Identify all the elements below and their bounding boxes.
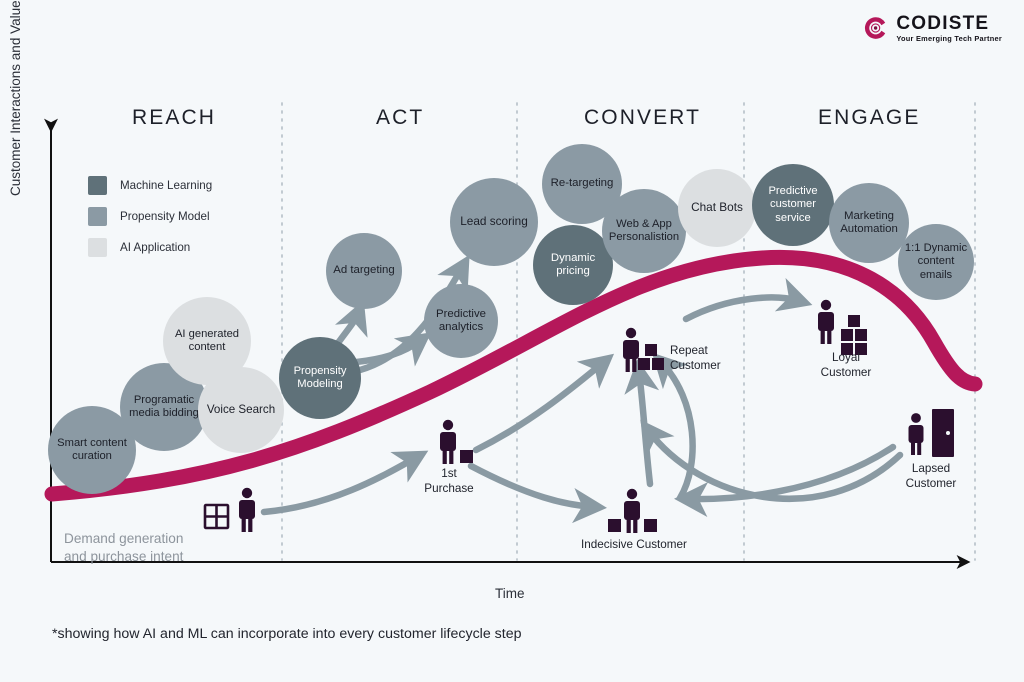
bubble-label: AI generated content <box>167 328 247 354</box>
bubble-label: Voice Search <box>207 403 275 417</box>
bubble-1-1-dynamic-content-emails[interactable]: 1:1 Dynamic content emails <box>898 224 974 300</box>
demand-line-1: Demand generation <box>64 531 183 546</box>
label-first-purchase: 1stPurchase <box>418 466 480 496</box>
loyal-customer-icon <box>818 300 867 355</box>
bubble-propensity-modeling[interactable]: Propensity Modeling <box>279 337 361 419</box>
bubble-voice-search[interactable]: Voice Search <box>198 367 284 453</box>
demand-generation-annotation: Demand generation and purchase intent <box>64 530 183 566</box>
legend-label-machine-learning: Machine Learning <box>120 179 212 192</box>
label-loyal-customer: LoyalCustomer <box>808 350 884 380</box>
demand-line-2: and purchase intent <box>64 549 183 564</box>
legend-label-ai-application: AI Application <box>120 241 190 254</box>
stage-header-reach: REACH <box>132 106 216 130</box>
bubble-ad-targeting[interactable]: Ad targeting <box>326 233 402 309</box>
label-indecisive-customer: Indecisive Customer <box>573 537 695 552</box>
bubble-label: Predictive customer service <box>756 185 830 224</box>
first-purchase-icon <box>440 420 473 464</box>
legend: Machine Learning Propensity Model AI App… <box>88 176 212 269</box>
indecisive-customer-icon <box>608 489 657 533</box>
legend-swatch-propensity-model <box>88 207 107 226</box>
legend-item-ai-application: AI Application <box>88 238 212 257</box>
repeat-customer-icon <box>623 328 664 372</box>
bubble-lead-scoring[interactable]: Lead scoring <box>450 178 538 266</box>
stage-header-engage: ENGAGE <box>818 106 920 130</box>
bubble-label: Ad targeting <box>333 264 394 277</box>
window-icon <box>205 505 228 528</box>
infographic-canvas: CODISTE Your Emerging Tech Partner <box>0 0 1024 682</box>
bubble-label: Re-targeting <box>551 177 614 190</box>
lapsed-customer-icon <box>909 413 924 455</box>
bubble-predictive-customer-service[interactable]: Predictive customer service <box>752 164 834 246</box>
bubble-chat-bots[interactable]: Chat Bots <box>678 169 756 247</box>
x-axis-label: Time <box>495 586 525 601</box>
bubble-label: Propensity Modeling <box>283 365 357 391</box>
stage-header-convert: CONVERT <box>584 106 701 130</box>
legend-swatch-ai-application <box>88 238 107 257</box>
bubble-label: Chat Bots <box>691 201 743 215</box>
bubble-marketing-automation[interactable]: Marketing Automation <box>829 183 909 263</box>
demand-person-icon <box>239 488 255 532</box>
bubble-label: 1:1 Dynamic content emails <box>902 242 970 281</box>
bubble-predictive-analytics[interactable]: Predictive analytics <box>424 284 498 358</box>
door-icon <box>932 409 954 457</box>
legend-label-propensity-model: Propensity Model <box>120 210 210 223</box>
legend-swatch-machine-learning <box>88 176 107 195</box>
bubble-label: Lead scoring <box>460 215 528 229</box>
bubble-label: Dynamic pricing <box>537 252 609 279</box>
y-axis-label: Customer Interactions and Value <box>8 0 23 196</box>
bubble-label: Web & App Personalistion <box>606 218 682 244</box>
bubble-web-app-personalistion[interactable]: Web & App Personalistion <box>602 189 686 273</box>
bubble-label: Predictive analytics <box>428 308 494 335</box>
diagram-svg <box>0 0 1024 682</box>
legend-item-machine-learning: Machine Learning <box>88 176 212 195</box>
bubble-label: Smart content curation <box>52 437 132 463</box>
stage-header-act: ACT <box>376 106 424 130</box>
footnote: *showing how AI and ML can incorporate i… <box>52 626 521 642</box>
label-repeat-customer: RepeatCustomer <box>670 343 744 373</box>
legend-item-propensity-model: Propensity Model <box>88 207 212 226</box>
bubble-label: Marketing Automation <box>833 210 905 237</box>
bubble-label: Programatic media bidding <box>124 394 204 420</box>
label-lapsed-customer: LapsedCustomer <box>893 461 969 491</box>
bubble-dynamic-pricing[interactable]: Dynamic pricing <box>533 225 613 305</box>
